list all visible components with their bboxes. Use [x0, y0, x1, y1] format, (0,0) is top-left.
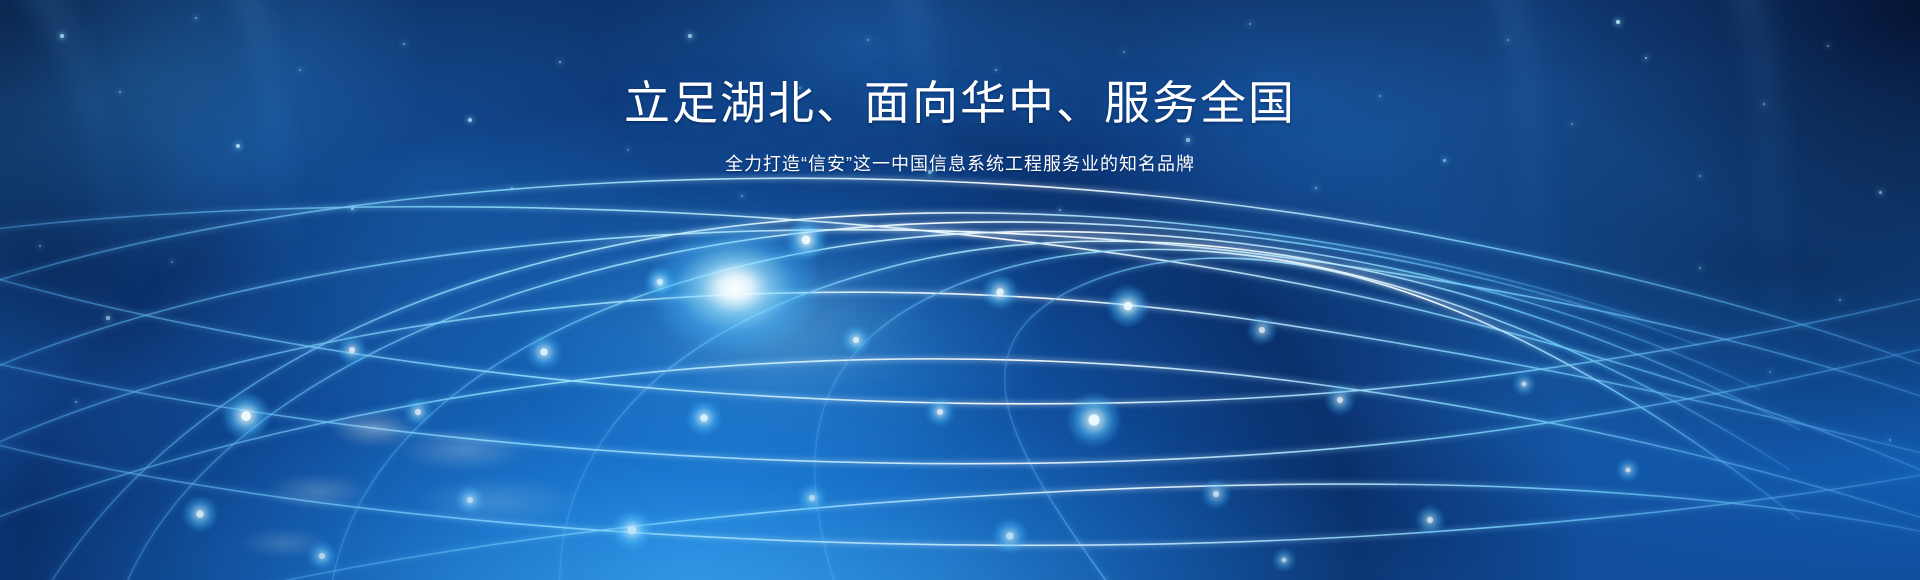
network-node: [802, 236, 811, 245]
banner-subtitle: 全力打造“信安”这一中国信息系统工程服务业的知名品牌: [0, 152, 1920, 177]
network-node: [540, 348, 547, 355]
network-arc: [560, 241, 1800, 580]
network-node: [1522, 382, 1527, 387]
network-node: [1213, 491, 1219, 497]
network-node: [196, 510, 203, 517]
network-arc: [815, 249, 1790, 580]
network-node: [415, 409, 421, 415]
network-node: [809, 495, 815, 501]
banner-text-block: 立足湖北、面向华中、服务全国 全力打造“信安”这一中国信息系统工程服务业的知名品…: [0, 76, 1920, 177]
network-node: [1282, 558, 1287, 563]
network-arc: [0, 230, 1920, 420]
network-node: [1626, 468, 1631, 473]
network-node: [996, 288, 1003, 295]
network-node: [657, 279, 663, 285]
network-node: [1124, 302, 1133, 311]
node-layer: [181, 218, 1641, 573]
network-node: [937, 409, 943, 415]
network-node: [1427, 517, 1433, 523]
network-node: [628, 526, 637, 535]
network-node: [241, 411, 251, 421]
banner-headline: 立足湖北、面向华中、服务全国: [0, 76, 1920, 130]
network-node: [467, 497, 473, 503]
network-arc: [330, 231, 1760, 580]
network-node: [319, 553, 325, 559]
network-arc: [0, 359, 1920, 540]
network-node: [700, 414, 707, 421]
network-arc: [0, 292, 1920, 470]
network-arc: [0, 430, 1920, 545]
network-node: [853, 337, 859, 343]
network-arc: [120, 222, 1700, 580]
network-node: [1088, 414, 1099, 425]
network-arc: [0, 207, 1920, 500]
hero-banner: 立足湖北、面向华中、服务全国 全力打造“信安”这一中国信息系统工程服务业的知名品…: [0, 0, 1920, 580]
network-node: [1259, 327, 1265, 333]
network-node: [1006, 532, 1013, 539]
network-node: [1337, 397, 1343, 403]
arc-layer: [0, 178, 1920, 580]
network-node: [349, 347, 355, 353]
